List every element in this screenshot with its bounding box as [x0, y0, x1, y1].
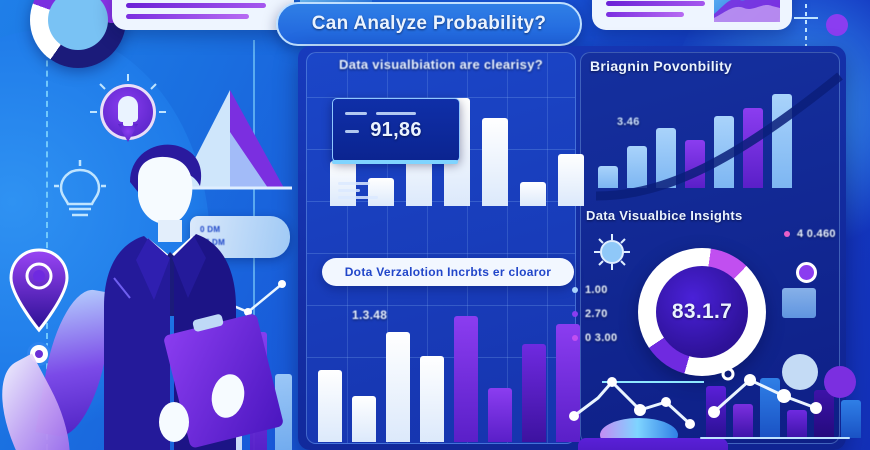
- tooltip-tick-lines: [345, 106, 431, 142]
- bar: [522, 344, 546, 442]
- board-subtitle: Data visualbiation are clearisy?: [316, 52, 566, 76]
- right-trend-curve: [596, 74, 840, 196]
- bottom-right-scatter-line: [700, 360, 860, 440]
- bar: [520, 182, 546, 206]
- legend-label: 0 3.00: [585, 332, 617, 344]
- right-panel-title-text: Briagnin Povonbility: [590, 58, 732, 74]
- bar: [420, 356, 444, 442]
- bar: [454, 316, 478, 442]
- donut-center-value: 83.1.7: [672, 300, 732, 324]
- card-right-lines: [606, 0, 714, 17]
- bar: [558, 154, 584, 206]
- mid-caption-pill: Dota Verzalotion Incrbts er cloaror: [322, 258, 574, 286]
- legend-dot-icon: [572, 335, 578, 341]
- tooltip-underline: [332, 160, 458, 164]
- legend-item: 2.70: [572, 308, 617, 320]
- purple-dot-accent: [826, 14, 848, 36]
- insights-donut-center: 83.1.7: [656, 266, 748, 358]
- bar: [386, 332, 410, 442]
- ring-marker-icon: [796, 262, 817, 283]
- lightbulb-glyph-icon: [118, 96, 138, 122]
- document-card-right: [592, 0, 792, 30]
- bar: [318, 370, 342, 442]
- area-chart-thumbnail: [714, 0, 780, 22]
- legend-dot-icon: [572, 287, 578, 293]
- crosshair-marker-icon: [792, 4, 820, 50]
- legend-label: 2.70: [585, 308, 608, 320]
- mini-square-accent: [782, 288, 816, 318]
- legend-item: 0 3.00: [572, 332, 617, 344]
- board-subtitle-text: Data visualbiation are clearisy?: [339, 57, 543, 72]
- center-mini-legend: [338, 182, 388, 203]
- bar: [482, 118, 508, 206]
- insights-legend: 1.00 2.70 0 3.00: [572, 284, 617, 356]
- insights-title-text: Data Visualbice Insights: [586, 208, 743, 223]
- insights-title: Data Visualbice Insights: [586, 207, 743, 225]
- card-left-lines: [126, 0, 266, 19]
- document-card-left: [112, 0, 294, 30]
- location-pin-icon: [8, 248, 70, 326]
- legend-label: 1.00: [585, 284, 608, 296]
- legend-item: 1.00: [572, 284, 617, 296]
- main-title-pill: Can Analyze Probability?: [276, 2, 582, 46]
- mid-caption-text: Dota Verzalotion Incrbts er cloaror: [345, 265, 552, 279]
- bar: [352, 396, 376, 442]
- businessman-illustration: [78, 130, 258, 450]
- insights-top-value-text: 4 0.460: [797, 228, 836, 240]
- legend-dot-icon: [572, 311, 578, 317]
- gear-icon[interactable]: [592, 232, 632, 272]
- center-lower-bar-chart: [318, 300, 580, 442]
- insights-top-value: 4 0.460: [784, 228, 836, 240]
- main-title-text: Can Analyze Probability?: [312, 13, 547, 35]
- legend-dot-icon: [784, 231, 790, 237]
- bar: [488, 388, 512, 442]
- infographic-canvas: Can Analyze Probability? Data visualbiat…: [0, 0, 870, 450]
